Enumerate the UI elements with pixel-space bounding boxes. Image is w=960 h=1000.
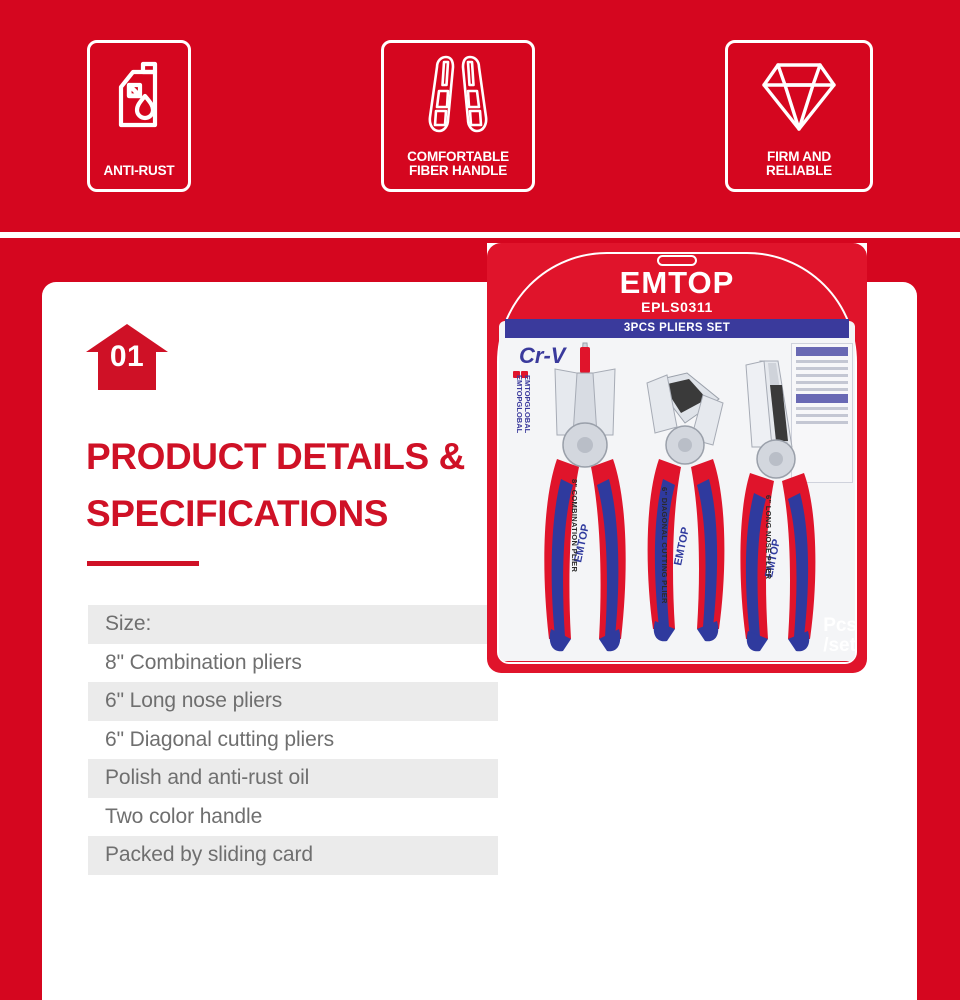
- page-title-line1: PRODUCT DETAILS &: [86, 436, 465, 477]
- tool-label: 6" DIAGONAL CUTTING PLIER: [660, 487, 669, 604]
- brand-logo: EMTOP: [487, 265, 867, 301]
- specification-list: Size: 8" Combination pliers 6" Long nose…: [88, 605, 498, 875]
- feature-badge-row: ANTI-RUST COMFORTABLEFIBER: [0, 0, 960, 232]
- quantity-line2: /set: [823, 636, 857, 655]
- list-item: 6" Long nose pliers: [88, 682, 498, 721]
- tool-label: 6" LONG NOSE PLIER: [764, 495, 773, 579]
- list-item: Packed by sliding card: [88, 836, 498, 875]
- social-handle: EMTOPGLOBAL: [515, 375, 524, 433]
- feature-badge-fiber-handle: COMFORTABLEFIBER HANDLE: [381, 40, 535, 192]
- diamond-icon: [758, 55, 840, 140]
- list-item: Size:: [88, 605, 498, 644]
- quantity-label: Pcs /set: [823, 616, 857, 655]
- feature-badge-label-line2: RELIABLE: [766, 163, 832, 178]
- set-title-band: 3PCS PLIERS SET: [505, 319, 849, 338]
- tool-label: 8" COMBINATION PLIER: [570, 479, 579, 572]
- feature-badge-label: FIRM ANDRELIABLE: [728, 150, 870, 179]
- svg-text:EMTOP: EMTOP: [672, 526, 692, 567]
- fiber-handle-icon: [415, 55, 501, 144]
- product-detail-page: ANTI-RUST COMFORTABLEFIBER: [0, 0, 960, 1000]
- model-code: EPLS0311: [487, 299, 867, 315]
- page-title-line2: SPECIFICATIONS: [86, 493, 388, 534]
- list-item: Two color handle: [88, 798, 498, 837]
- section-number: 01: [86, 340, 168, 374]
- long-nose-pliers-illustration: EMTOP: [732, 355, 844, 655]
- product-package-image: EMTOP EPLS0311 3PCS PLIERS SET Cr-V EMTO…: [487, 243, 867, 673]
- quantity-line1: Pcs: [823, 616, 857, 635]
- list-item: 6" Diagonal cutting pliers: [88, 721, 498, 760]
- set-title: 3PCS PLIERS SET: [505, 319, 849, 338]
- blister-pack: EMTOP EPLS0311 3PCS PLIERS SET Cr-V EMTO…: [487, 243, 867, 673]
- page-title: PRODUCT DETAILS & SPECIFICATIONS: [86, 428, 556, 543]
- feature-badge-firm-reliable: FIRM ANDRELIABLE: [725, 40, 873, 192]
- oil-can-icon: [107, 55, 171, 140]
- feature-badge-label: ANTI-RUST: [90, 164, 188, 179]
- heading-underline: [87, 561, 199, 566]
- combination-pliers-illustration: EMTOP: [527, 339, 647, 659]
- feature-badge-label: COMFORTABLEFIBER HANDLE: [384, 150, 532, 179]
- feature-badge-label-line2: FIBER HANDLE: [409, 163, 507, 178]
- feature-banner: ANTI-RUST COMFORTABLEFIBER: [0, 0, 960, 232]
- section-number-badge: 01: [86, 324, 168, 390]
- feature-badge-label-line1: COMFORTABLE: [407, 149, 509, 164]
- feature-badge-anti-rust: ANTI-RUST: [87, 40, 191, 192]
- feature-badge-label-line1: FIRM AND: [767, 149, 831, 164]
- list-item: Polish and anti-rust oil: [88, 759, 498, 798]
- diagonal-cutting-pliers-illustration: EMTOP: [633, 367, 745, 647]
- list-item: 8" Combination pliers: [88, 644, 498, 683]
